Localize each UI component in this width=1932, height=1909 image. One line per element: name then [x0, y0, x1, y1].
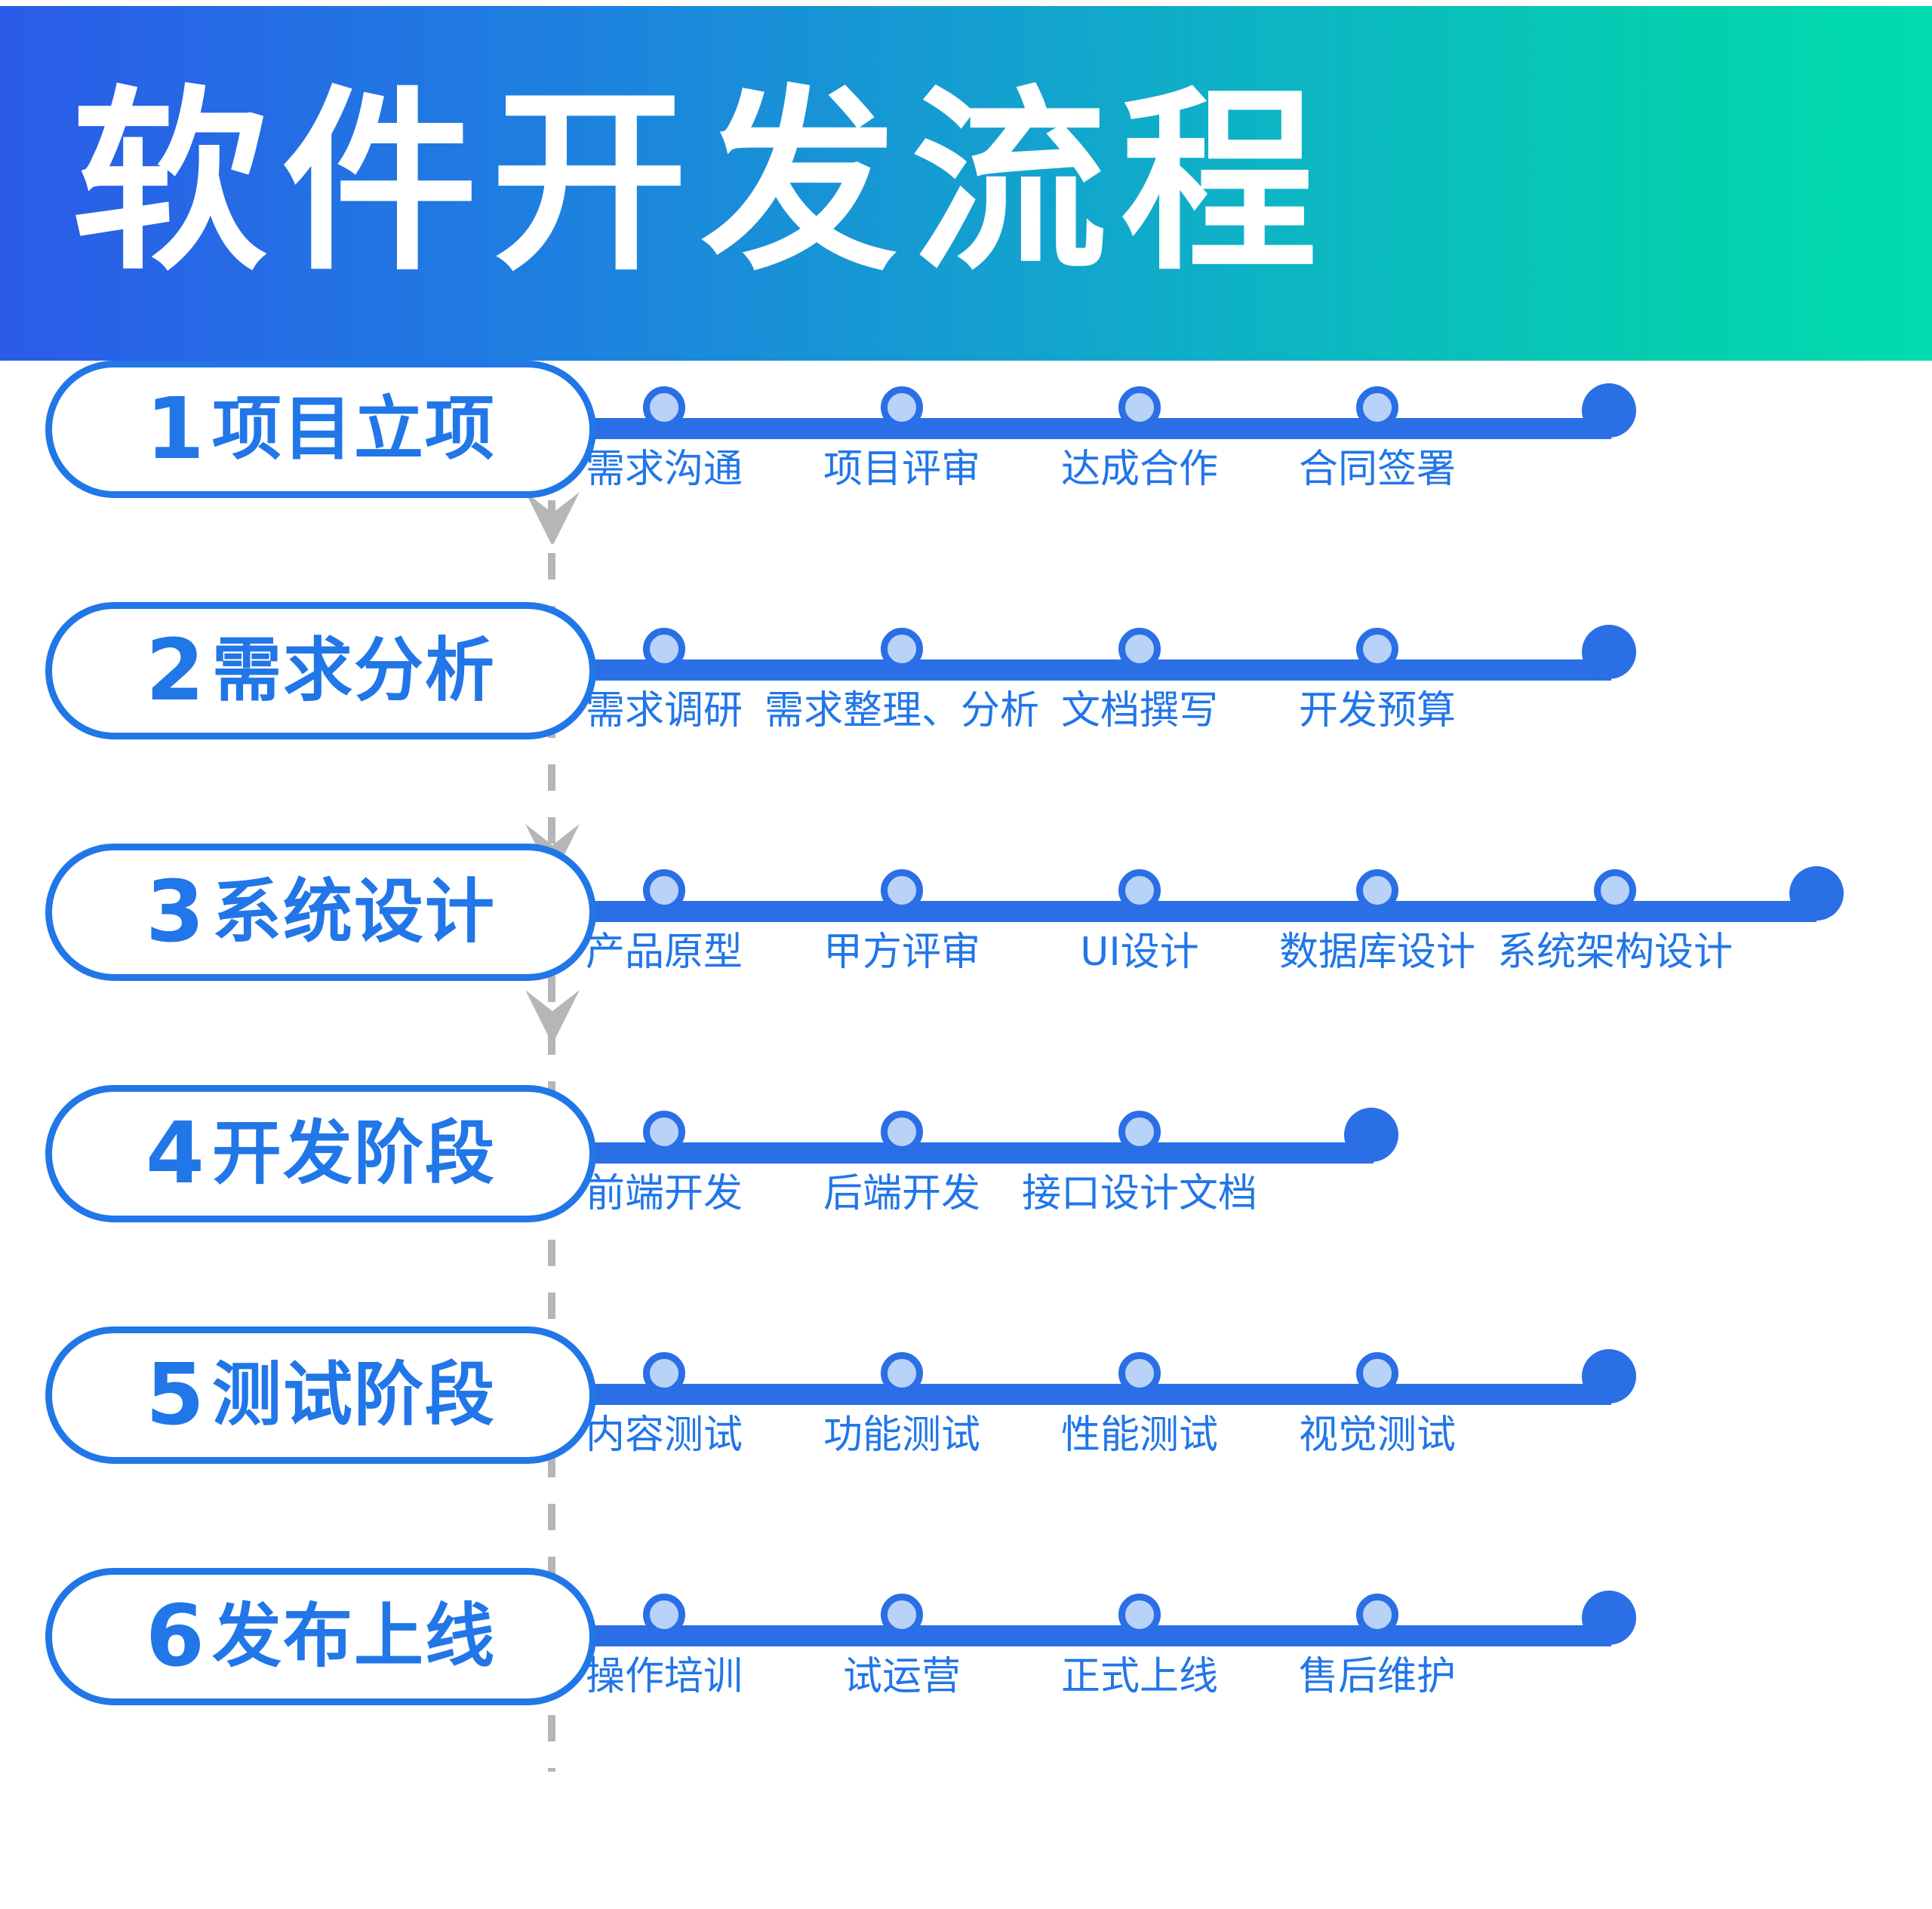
down-arrow-icon: [524, 490, 581, 545]
step-node[interactable]: [1118, 869, 1161, 911]
stage-number: 3: [146, 870, 205, 954]
stage-pill-2[interactable]: 2 需求分析: [45, 602, 596, 739]
step-label: 数据库设计: [1279, 933, 1475, 972]
step-node[interactable]: [1118, 628, 1161, 670]
stage-row: 1 项目立项 需求沟通 项目评审 达成合作 合同签署: [0, 361, 1932, 519]
step-label: 开发预算: [1299, 691, 1456, 730]
step-label: 需求整理、分析: [764, 691, 1039, 730]
stage-end-dot: [1582, 1349, 1636, 1403]
stage-pill-4[interactable]: 4 开发阶段: [45, 1085, 596, 1222]
step-node[interactable]: [881, 628, 923, 670]
step-node[interactable]: [643, 1594, 685, 1636]
step-label: 操作培训: [586, 1657, 743, 1696]
step-label: 试运营: [843, 1657, 961, 1696]
step-node[interactable]: [643, 1111, 685, 1153]
step-node[interactable]: [1356, 1594, 1398, 1636]
stage-end-dot: [1582, 383, 1636, 438]
stage-row: 3 系统设计 产品原型 甲方评审 UI设计 数据库设计 系统架构设计: [0, 844, 1932, 1002]
step-label: 售后维护: [1299, 1657, 1456, 1696]
step-node[interactable]: [1118, 386, 1161, 429]
step-label: 需求调研: [586, 691, 743, 730]
step-node[interactable]: [643, 628, 685, 670]
stage-row: 5 测试阶段 内容测试 功能测试 性能测试 视觉测试: [0, 1326, 1932, 1485]
stage-end-dot: [1344, 1108, 1398, 1162]
stage-label: 需求分析: [212, 636, 496, 705]
step-node[interactable]: [1356, 386, 1398, 429]
step-node[interactable]: [881, 1111, 923, 1153]
step-label: 后端开发: [823, 1174, 980, 1213]
stage-number: 2: [146, 629, 205, 713]
header-banner: 软件开发流程: [0, 6, 1932, 361]
step-node[interactable]: [881, 1352, 923, 1394]
stage-number: 6: [146, 1594, 205, 1679]
stage-pill-5[interactable]: 5 测试阶段: [45, 1326, 596, 1464]
step-label: 正式上线: [1061, 1657, 1218, 1696]
stage-label: 开发阶段: [212, 1119, 496, 1188]
step-node[interactable]: [643, 869, 685, 911]
stage-pill-3[interactable]: 3 系统设计: [45, 844, 596, 981]
step-label: 性能测试: [1061, 1416, 1218, 1455]
stage-label: 系统设计: [212, 878, 496, 947]
stage-row: 2 需求分析 需求调研 需求整理、分析 文档撰写 开发预算: [0, 602, 1932, 761]
down-arrow-icon: [524, 988, 581, 1043]
step-label: 文档撰写: [1061, 691, 1218, 730]
step-label: 合同签署: [1299, 450, 1456, 489]
stage-label: 项目立项: [212, 395, 496, 464]
flow-diagram: 1 项目立项 需求沟通 项目评审 达成合作 合同签署 2 需求分析 需求调研 需…: [0, 361, 1932, 1909]
stage-number: 4: [146, 1111, 205, 1196]
step-label: 甲方评审: [823, 933, 980, 972]
step-node[interactable]: [881, 1594, 923, 1636]
stage-row: 6 发布上线 操作培训 试运营 正式上线 售后维护: [0, 1568, 1932, 1726]
step-label: 接口设计文档: [1022, 1174, 1257, 1213]
step-label: 内容测试: [586, 1416, 743, 1455]
stage-end-dot: [1582, 1591, 1636, 1645]
step-node[interactable]: [643, 1352, 685, 1394]
step-node[interactable]: [1356, 1352, 1398, 1394]
stage-pill-1[interactable]: 1 项目立项: [45, 361, 596, 498]
stage-number: 5: [146, 1353, 205, 1437]
stage-end-dot: [1582, 625, 1636, 679]
step-label: 前端开发: [586, 1174, 743, 1213]
stage-row: 4 开发阶段 前端开发 后端开发 接口设计文档: [0, 1085, 1932, 1243]
step-label: 视觉测试: [1299, 1416, 1456, 1455]
step-node[interactable]: [881, 386, 923, 429]
page-title: 软件开发流程: [72, 85, 1331, 281]
step-node[interactable]: [1356, 628, 1398, 670]
step-label: 产品原型: [586, 933, 743, 972]
step-node[interactable]: [1118, 1111, 1161, 1153]
stage-pill-6[interactable]: 6 发布上线: [45, 1568, 596, 1705]
step-node[interactable]: [1356, 869, 1398, 911]
step-label: 功能测试: [823, 1416, 980, 1455]
step-label: 项目评审: [823, 450, 980, 489]
step-label: 需求沟通: [586, 450, 743, 489]
step-node[interactable]: [1118, 1352, 1161, 1394]
step-label: 达成合作: [1061, 450, 1218, 489]
step-label: UI设计: [1080, 933, 1198, 972]
stage-number: 1: [146, 387, 205, 472]
stage-label: 发布上线: [212, 1602, 496, 1671]
stage-end-dot: [1789, 866, 1844, 921]
step-node[interactable]: [1594, 869, 1636, 911]
stage-label: 测试阶段: [212, 1360, 496, 1430]
step-node[interactable]: [1118, 1594, 1161, 1636]
step-label: 系统架构设计: [1497, 933, 1733, 972]
step-node[interactable]: [643, 386, 685, 429]
step-node[interactable]: [881, 869, 923, 911]
